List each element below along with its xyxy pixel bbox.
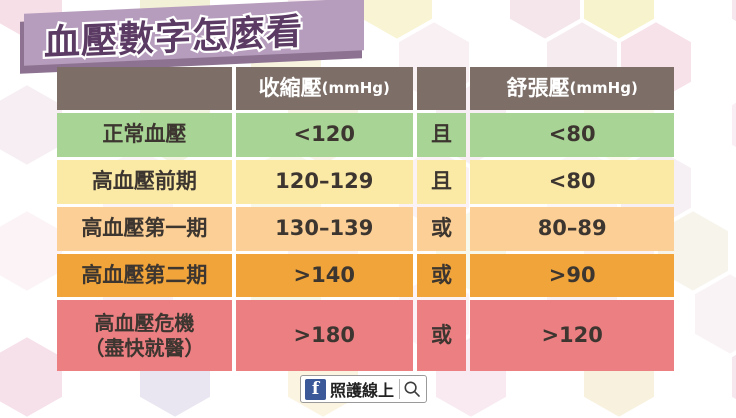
row-label: 高血壓危機 （盡快就醫） [57,300,232,371]
poster-canvas: 血壓數字怎麼看 收縮壓(mmHg) 舒張壓(mmHg) 正常血壓 <120 且 … [0,0,736,418]
header-diastolic-unit: (mmHg) [570,79,638,97]
title-banner: 血壓數字怎麼看 [18,4,368,68]
table-header-row: 收縮壓(mmHg) 舒張壓(mmHg) [57,67,674,110]
row-diastolic: <80 [470,113,674,157]
table-row: 高血壓第二期 >140 或 >90 [57,254,674,297]
row-systolic: <120 [236,113,413,157]
row-conjunction: 或 [417,300,467,371]
row-diastolic: <80 [470,160,674,204]
header-cell-category [57,67,232,110]
blood-pressure-table: 收縮壓(mmHg) 舒張壓(mmHg) 正常血壓 <120 且 <80 高血壓前… [57,67,674,374]
row-systolic: 120–129 [236,160,413,204]
row-diastolic: >120 [470,300,674,371]
row-systolic: >140 [236,254,413,297]
row-label-line2: （盡快就醫） [84,336,204,360]
row-diastolic: >90 [470,254,674,297]
row-systolic: >180 [236,300,413,371]
header-cell-conjunction [417,67,467,110]
header-systolic-unit: (mmHg) [322,79,390,97]
facebook-icon: f [305,379,326,400]
row-label: 高血壓第一期 [57,207,232,251]
row-conjunction: 且 [417,160,467,204]
header-cell-diastolic: 舒張壓(mmHg) [470,67,674,110]
row-label-line1: 高血壓危機 [94,311,194,335]
table-row: 高血壓前期 120–129 且 <80 [57,160,674,204]
row-systolic: 130–139 [236,207,413,251]
row-conjunction: 或 [417,207,467,251]
brand-name: 照護線上 [330,377,399,401]
header-cell-systolic: 收縮壓(mmHg) [236,67,413,110]
row-diastolic: 80–89 [470,207,674,251]
header-diastolic-text: 舒張壓 [507,76,570,102]
table-row: 高血壓危機 （盡快就醫） >180 或 >120 [57,300,674,371]
row-label: 高血壓前期 [57,160,232,204]
table-row: 正常血壓 <120 且 <80 [57,113,674,157]
row-conjunction: 且 [417,113,467,157]
row-label: 正常血壓 [57,113,232,157]
table-row: 高血壓第一期 130–139 或 80–89 [57,207,674,251]
search-icon[interactable] [400,377,424,401]
row-conjunction: 或 [417,254,467,297]
facebook-page-badge[interactable]: f 照護線上 [300,375,427,403]
row-label: 高血壓第二期 [57,254,232,297]
header-systolic-text: 收縮壓 [259,76,322,102]
